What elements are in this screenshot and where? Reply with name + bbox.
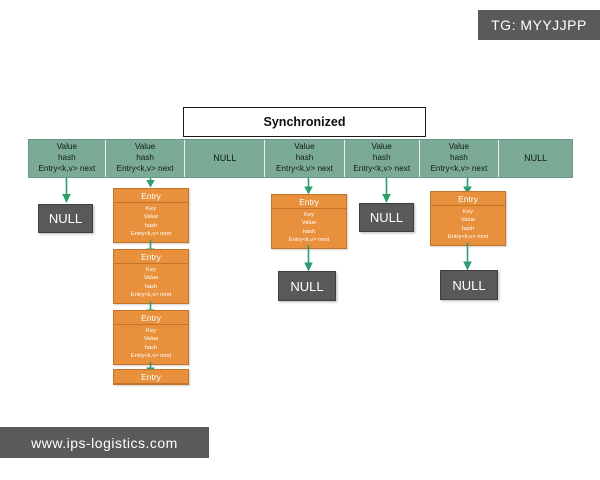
entry-field-value: Value bbox=[431, 216, 505, 224]
bucket-1-line-1: hash bbox=[136, 153, 154, 164]
bucket-4-line-1: hash bbox=[373, 153, 391, 164]
bucket-cell-4[interactable]: Value hash Entry<k,v> next bbox=[345, 140, 420, 177]
entry-field-next: Entry<k,v> next bbox=[114, 230, 188, 238]
diagram-canvas: TG: MYYJJPP www.ips-logistics.com Synchr… bbox=[0, 0, 600, 480]
bucket-5-line-2: Entry<k,v> next bbox=[430, 164, 487, 175]
entry-body-chain1-1: Key Value hash Entry<k,v> next bbox=[114, 264, 188, 303]
entry-field-hash: hash bbox=[114, 283, 188, 291]
top-watermark-tag: TG: MYYJJPP bbox=[478, 10, 600, 40]
bucket-0-line-0: Value bbox=[57, 142, 77, 153]
bucket-cell-6[interactable]: NULL bbox=[499, 140, 572, 177]
arrow-chain5-entry-to-null bbox=[462, 243, 473, 271]
entry-field-next: Entry<k,v> next bbox=[114, 291, 188, 299]
bucket-1-line-0: Value bbox=[135, 142, 155, 153]
bucket-3-line-0: Value bbox=[294, 142, 314, 153]
entry-body-chain5-0: Key Value hash Entry<k,v> next bbox=[431, 206, 505, 245]
entry-body-chain1-0: Key Value hash Entry<k,v> next bbox=[114, 203, 188, 242]
entry-field-key: Key bbox=[114, 205, 188, 213]
entry-box-chain3-0: Entry Key Value hash Entry<k,v> next bbox=[271, 194, 347, 249]
entry-body-chain3-0: Key Value hash Entry<k,v> next bbox=[272, 209, 346, 248]
bucket-0-line-1: hash bbox=[58, 153, 76, 164]
bucket-0-line-2: Entry<k,v> next bbox=[38, 164, 95, 175]
null-box-chain3: NULL bbox=[278, 271, 336, 301]
entry-box-chain1-2: Entry Key Value hash Entry<k,v> next bbox=[113, 310, 189, 365]
bucket-4-line-2: Entry<k,v> next bbox=[353, 164, 410, 175]
bucket-3-line-1: hash bbox=[296, 153, 314, 164]
bucket-1-line-2: Entry<k,v> next bbox=[117, 164, 174, 175]
bucket-6-line-0: NULL bbox=[524, 153, 547, 165]
entry-body-chain1-2: Key Value hash Entry<k,v> next bbox=[114, 325, 188, 364]
arrow-bucket0-to-null bbox=[61, 178, 72, 204]
bucket-cell-5[interactable]: Value hash Entry<k,v> next bbox=[420, 140, 500, 177]
bucket-5-line-0: Value bbox=[449, 142, 469, 153]
null-box-chain0: NULL bbox=[38, 204, 93, 233]
bucket-cell-0[interactable]: Value hash Entry<k,v> next bbox=[29, 140, 106, 177]
bucket-4-line-0: Value bbox=[372, 142, 392, 153]
bucket-5-line-1: hash bbox=[450, 153, 468, 164]
entry-field-hash: hash bbox=[114, 222, 188, 230]
entry-field-key: Key bbox=[114, 266, 188, 274]
entry-field-key: Key bbox=[114, 327, 188, 335]
entry-field-value: Value bbox=[114, 335, 188, 343]
entry-field-value: Value bbox=[114, 274, 188, 282]
synchronized-banner: Synchronized bbox=[183, 107, 426, 137]
entry-field-key: Key bbox=[431, 208, 505, 216]
entry-field-value: Value bbox=[114, 213, 188, 221]
bucket-cell-3[interactable]: Value hash Entry<k,v> next bbox=[265, 140, 345, 177]
entry-field-value: Value bbox=[272, 219, 346, 227]
null-box-chain4: NULL bbox=[359, 203, 414, 232]
entry-head-chain3-0: Entry bbox=[272, 195, 346, 209]
entry-field-next: Entry<k,v> next bbox=[272, 236, 346, 244]
arrow-bucket4-to-null bbox=[381, 178, 392, 204]
arrow-bucket3-to-entry bbox=[303, 178, 314, 195]
entry-field-key: Key bbox=[272, 211, 346, 219]
bucket-cell-1[interactable]: Value hash Entry<k,v> next bbox=[106, 140, 186, 177]
bucket-3-line-2: Entry<k,v> next bbox=[276, 164, 333, 175]
entry-field-hash: hash bbox=[114, 344, 188, 352]
entry-box-chain1-1: Entry Key Value hash Entry<k,v> next bbox=[113, 249, 189, 304]
entry-field-next: Entry<k,v> next bbox=[114, 352, 188, 360]
arrow-bucket1-to-entry0 bbox=[145, 178, 156, 188]
entry-head-chain1-1: Entry bbox=[114, 250, 188, 264]
entry-head-chain1-0: Entry bbox=[114, 189, 188, 203]
null-box-chain5: NULL bbox=[440, 270, 498, 300]
entry-box-chain1-0: Entry Key Value hash Entry<k,v> next bbox=[113, 188, 189, 243]
entry-box-chain5-0: Entry Key Value hash Entry<k,v> next bbox=[430, 191, 506, 246]
entry-head-chain1-2: Entry bbox=[114, 311, 188, 325]
bucket-array-row: Value hash Entry<k,v> next Value hash En… bbox=[28, 139, 573, 178]
entry-box-chain1-3: Entry Key Value hash Entry<k,v> next bbox=[113, 369, 189, 385]
entry-field-next: Entry<k,v> next bbox=[431, 233, 505, 241]
bucket-2-line-0: NULL bbox=[213, 153, 236, 165]
entry-field-hash: hash bbox=[431, 225, 505, 233]
entry-head-chain1-3: Entry bbox=[114, 370, 188, 384]
entry-head-chain5-0: Entry bbox=[431, 192, 505, 206]
bottom-watermark-tag: www.ips-logistics.com bbox=[0, 427, 209, 458]
entry-field-hash: hash bbox=[272, 228, 346, 236]
arrow-chain3-entry-to-null bbox=[303, 245, 314, 272]
bucket-cell-2[interactable]: NULL bbox=[185, 140, 265, 177]
